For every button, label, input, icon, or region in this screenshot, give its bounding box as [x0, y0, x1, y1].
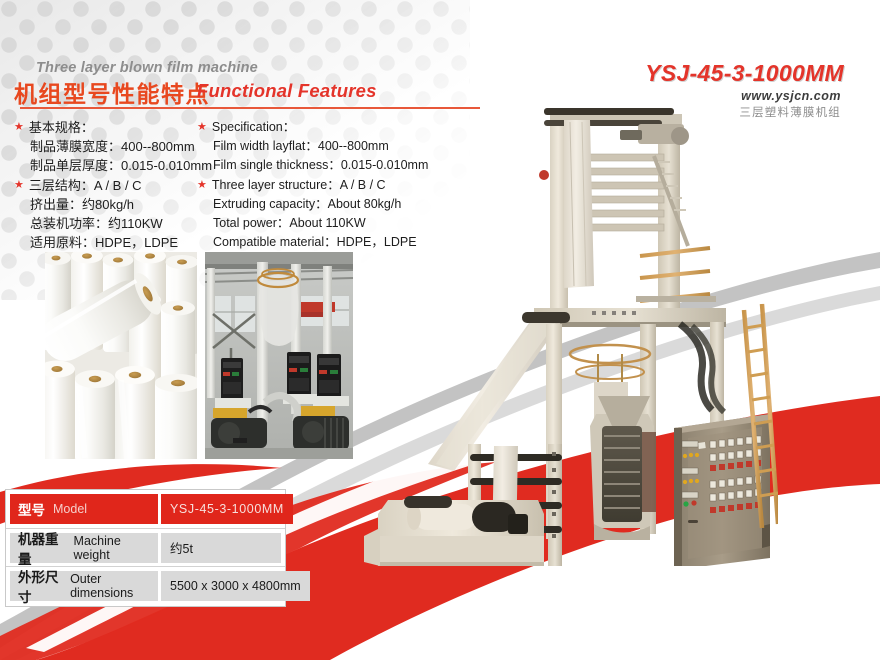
model-number-heading: YSJ-45-3-1000MM: [645, 60, 844, 87]
spec-line: 总装机功率：约110KW: [14, 214, 204, 233]
page-title-chinese: 机组型号性能特点: [14, 75, 210, 109]
table-label-english: Model: [53, 502, 87, 516]
eyebrow-subtitle: Three layer blown film machine: [36, 60, 258, 76]
spec-group-heading-text: Three layer structure：A / B / C: [212, 176, 386, 195]
star-bullet-icon: ★: [197, 118, 207, 137]
spec-line: Compatible material：HDPE，LDPE: [197, 233, 447, 252]
table-row-label: 机器重量Machine weight: [10, 533, 158, 563]
spec-line: 挤出量：约80kg/h: [14, 195, 204, 214]
spec-line: Extruding capacity：About 80kg/h: [197, 195, 447, 214]
table-row-label: 外形尺寸Outer dimensions: [10, 571, 158, 601]
specifications-chinese-column: ★基本规格：制品薄膜宽度：400--800mm制品单层厚度：0.015-0.01…: [14, 118, 204, 253]
spec-group-heading-text: 基本规格：: [29, 118, 94, 137]
brochure-page: Three layer blown film machine 机组型号性能特点 …: [0, 0, 880, 660]
film-rolls-photo: [45, 252, 197, 459]
spec-group-heading-text: 三层结构：A / B / C: [29, 176, 142, 195]
spec-group-heading: ★Specification：: [197, 118, 447, 137]
table-row-value: YSJ-45-3-1000MM: [161, 494, 293, 524]
table-label-chinese: 外形尺寸: [18, 566, 62, 606]
spec-line: 适用原料：HDPE，LDPE: [14, 233, 204, 252]
title-divider-rule: [20, 107, 480, 109]
spec-group-heading-text: Specification：: [212, 118, 295, 137]
spec-group-heading: ★Three layer structure：A / B / C: [197, 176, 447, 195]
table-row-value: 约5t: [161, 533, 281, 563]
page-title-english: Functional Features: [197, 80, 377, 102]
spec-line: Total power：About 110KW: [197, 214, 447, 233]
spec-group-heading: ★三层结构：A / B / C: [14, 176, 204, 195]
website-url[interactable]: www.ysjcn.com: [741, 89, 841, 103]
star-bullet-icon: ★: [14, 176, 24, 195]
spec-line: Film single thickness：0.015-0.010mm: [197, 156, 447, 175]
star-bullet-icon: ★: [14, 118, 24, 137]
spec-group: ★基本规格：制品薄膜宽度：400--800mm制品单层厚度：0.015-0.01…: [14, 118, 204, 175]
table-label-english: Outer dimensions: [70, 572, 150, 600]
spec-group: ★Specification：Film width layflat：400--8…: [197, 118, 447, 175]
spec-group: ★三层结构：A / B / C挤出量：约80kg/h总装机功率：约110KW适用…: [14, 176, 204, 252]
specification-table: 型号ModelYSJ-45-3-1000MM机器重量Machine weight…: [5, 489, 286, 607]
table-row-label: 型号Model: [10, 494, 158, 524]
spec-line: Film width layflat：400--800mm: [197, 137, 447, 156]
table-row: 机器重量Machine weight约5t: [6, 528, 285, 566]
table-row-value: 5500 x 3000 x 4800mm: [161, 571, 310, 601]
spec-group: ★Three layer structure：A / B / CExtrudin…: [197, 176, 447, 252]
star-bullet-icon: ★: [197, 176, 207, 195]
company-subtitle-chinese: 三层塑料薄膜机组: [739, 104, 841, 120]
table-row: 型号ModelYSJ-45-3-1000MM: [6, 490, 285, 528]
table-label-chinese: 机器重量: [18, 528, 66, 568]
table-label-english: Machine weight: [74, 534, 150, 562]
specifications-english-column: ★Specification：Film width layflat：400--8…: [197, 118, 447, 253]
spec-line: 制品单层厚度：0.015-0.010mm: [14, 156, 204, 175]
spec-line: 制品薄膜宽度：400--800mm: [14, 137, 204, 156]
factory-line-photo: [205, 252, 353, 459]
table-row: 外形尺寸Outer dimensions5500 x 3000 x 4800mm: [6, 566, 285, 604]
spec-group-heading: ★基本规格：: [14, 118, 204, 137]
table-label-chinese: 型号: [18, 499, 45, 519]
